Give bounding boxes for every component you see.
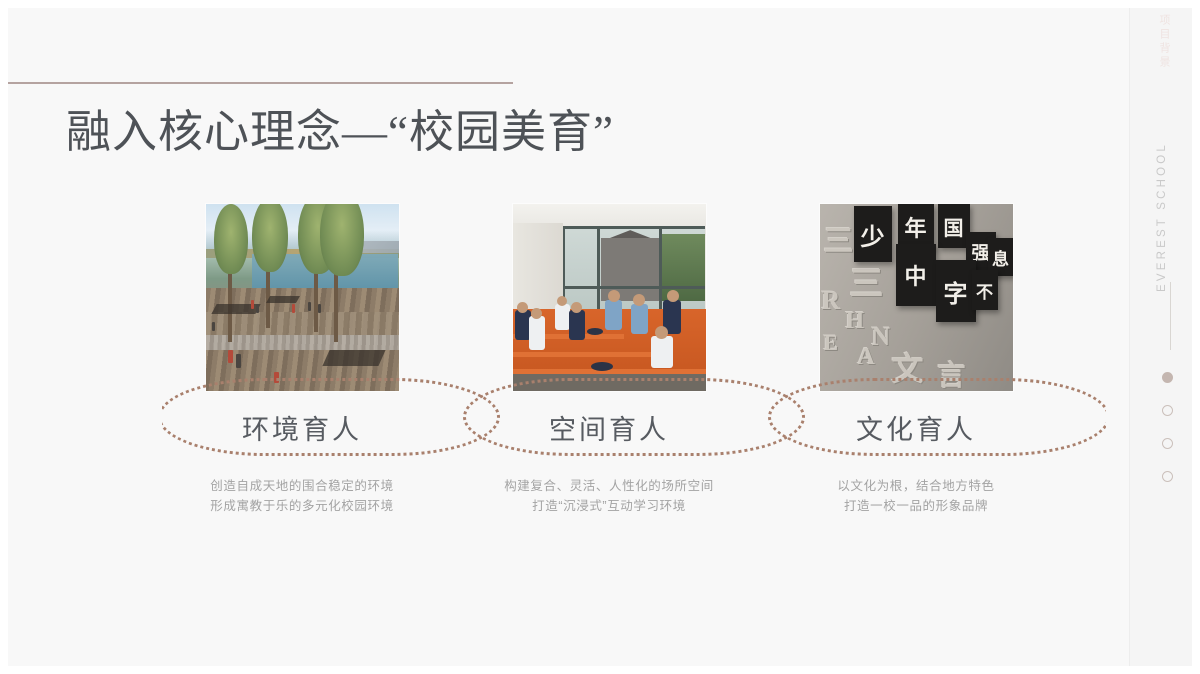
- capsule-left-mask: [138, 372, 162, 468]
- caption-culture: 以文化为根，结合地方特色 打造一校一品的形象品牌: [766, 476, 1066, 517]
- column-space[interactable]: [491, 204, 727, 391]
- pagination-dot[interactable]: [1162, 471, 1173, 482]
- relief-glyph: 三: [824, 216, 854, 260]
- student-head: [517, 302, 528, 313]
- deck-shadow: [265, 296, 299, 303]
- student-figure: [631, 304, 648, 334]
- content-columns: 三 R H E N A 文 言 三 少 年 国 中 强 息 字 不: [8, 8, 1138, 674]
- floor-cushion: [587, 328, 603, 335]
- photo-environment[interactable]: [206, 204, 399, 391]
- person-figure: [318, 304, 321, 313]
- pagination-dot[interactable]: [1162, 438, 1173, 449]
- caption-line: 构建复合、灵活、人性化的场所空间: [459, 476, 759, 496]
- student-head: [667, 290, 679, 302]
- photo-space[interactable]: [513, 204, 706, 391]
- student-head: [557, 296, 567, 306]
- caption-environment: 创造自成天地的围合稳定的环境 形成寓教于乐的多元化校园环境: [152, 476, 452, 517]
- deck-shadow: [322, 350, 385, 366]
- heading-environment: 环境育人: [184, 408, 420, 447]
- wood-deck-band: [206, 312, 399, 334]
- person-figure: [251, 300, 254, 309]
- student-head: [655, 326, 668, 339]
- person-figure: [256, 304, 259, 313]
- student-figure: [569, 310, 585, 340]
- student-figure: [651, 336, 673, 368]
- relief-glyph: E: [824, 330, 839, 356]
- person-figure: [308, 302, 311, 311]
- student-figure: [605, 300, 622, 330]
- person-figure: [292, 304, 295, 313]
- section-tag: 项目背景: [1156, 14, 1172, 70]
- tree-crown: [320, 204, 364, 276]
- caption-line: 形成寓教于乐的多元化校园环境: [152, 496, 452, 516]
- student-head: [531, 308, 542, 319]
- relief-glyph: A: [858, 344, 875, 371]
- brand-label: EVEREST SCHOOL: [1156, 142, 1168, 292]
- step-edge: [513, 352, 656, 357]
- student-head: [608, 290, 620, 302]
- photo-culture[interactable]: 三 R H E N A 文 言 三 少 年 国 中 强 息 字 不: [820, 204, 1013, 391]
- relief-glyph: R: [822, 286, 841, 316]
- wall-panel: 少: [854, 206, 892, 262]
- caption-line: 创造自成天地的围合稳定的环境: [152, 476, 452, 496]
- student-figure: [555, 304, 570, 330]
- pagination-dot-active[interactable]: [1162, 372, 1173, 383]
- student-head: [571, 302, 582, 313]
- slide-pagination[interactable]: [1162, 372, 1173, 504]
- wall-panel: 中: [896, 244, 936, 306]
- person-figure: [228, 350, 233, 363]
- pagination-dot[interactable]: [1162, 405, 1173, 416]
- wall-panel: 字: [936, 260, 976, 322]
- tree-crown: [214, 204, 248, 274]
- window-mullion: [563, 286, 706, 289]
- wall-panel: 不: [972, 270, 998, 310]
- student-head: [633, 294, 645, 306]
- rail-divider-line: [1170, 282, 1171, 350]
- right-rail: 项目背景 EVEREST SCHOOL: [1129, 0, 1200, 674]
- heading-space: 空间育人: [491, 408, 727, 447]
- column-culture[interactable]: 三 R H E N A 文 言 三 少 年 国 中 强 息 字 不: [798, 204, 1034, 391]
- window-mullion: [563, 226, 706, 229]
- floor-cushion: [591, 362, 613, 371]
- caption-line: 打造“沉浸式”互动学习环境: [459, 496, 759, 516]
- caption-space: 构建复合、灵活、人性化的场所空间 打造“沉浸式”互动学习环境: [459, 476, 759, 517]
- heading-culture: 文化育人: [798, 408, 1034, 447]
- person-figure: [212, 322, 215, 331]
- caption-line: 以文化为根，结合地方特色: [766, 476, 1066, 496]
- caption-line: 打造一校一品的形象品牌: [766, 496, 1066, 516]
- person-figure: [236, 354, 241, 368]
- student-figure: [529, 316, 545, 350]
- relief-glyph: H: [846, 308, 865, 335]
- stone-path-layer: [206, 335, 399, 350]
- outside-greenery: [659, 234, 705, 301]
- relief-glyph: 三: [850, 256, 884, 305]
- column-environment[interactable]: [184, 204, 420, 391]
- presentation-slide: 融入核心理念—“校园美育”: [0, 0, 1200, 674]
- tree-crown: [252, 204, 288, 272]
